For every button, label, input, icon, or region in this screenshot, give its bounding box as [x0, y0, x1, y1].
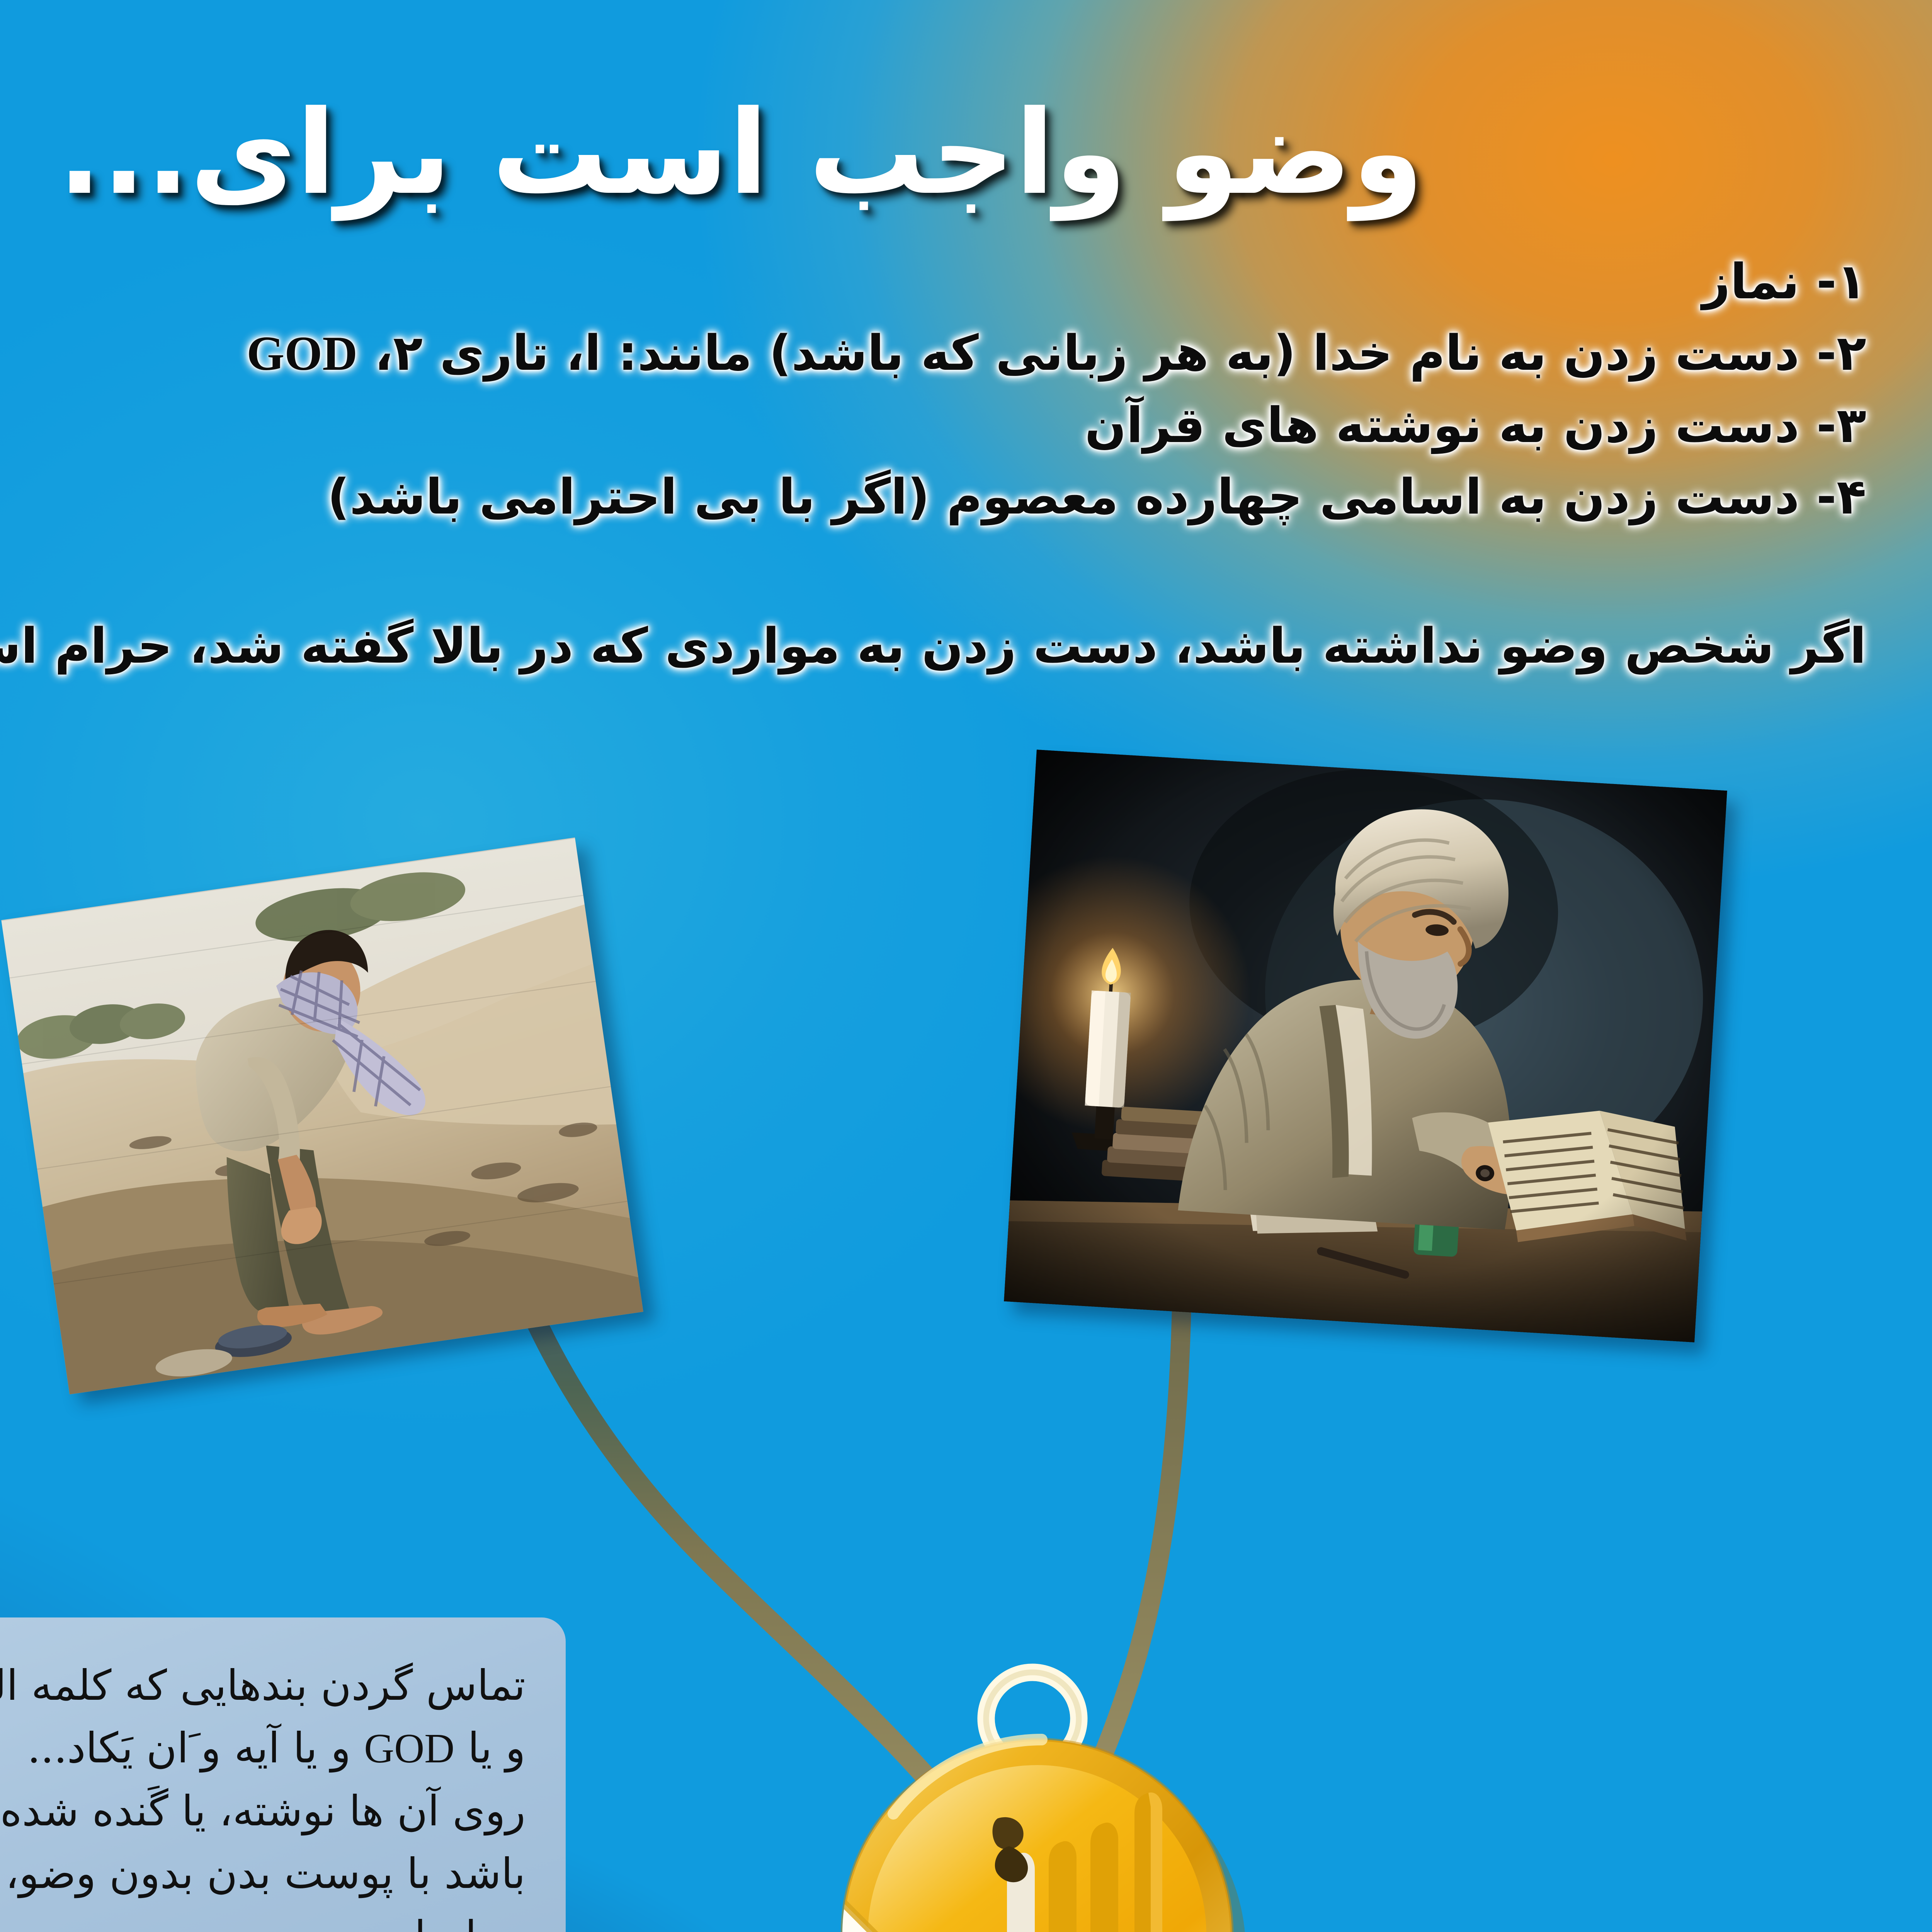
caption-line-5: حرام است.: [325, 1912, 526, 1932]
photo-masah-feet: [1, 837, 643, 1394]
caption-box: تماس گردن بندهایی که کلمه الله و یا GOD …: [0, 1617, 566, 1932]
caption-line-2-b: و یا آیه و َان یَکاد...: [27, 1724, 351, 1772]
caption-line-3: روی آن ها نوشته، یا گَنده شده: [0, 1787, 526, 1835]
poster-canvas: وضو واجب است برای... ۱- نماز ۲- دست زدن …: [0, 0, 1932, 1932]
caption-latin-god: GOD: [364, 1726, 454, 1772]
caption-line-4: باشد با پوست بدن بدون وضو،: [5, 1850, 526, 1898]
caption-text: تماس گردن بندهایی که کلمه الله و یا GOD …: [0, 1655, 526, 1932]
photo-scholar-candlelight: [1004, 750, 1727, 1342]
caption-line-1: تماس گردن بندهایی که کلمه الله: [0, 1662, 526, 1710]
allah-pendant: [794, 1654, 1281, 1932]
caption-line-2-a: و یا: [468, 1724, 526, 1772]
